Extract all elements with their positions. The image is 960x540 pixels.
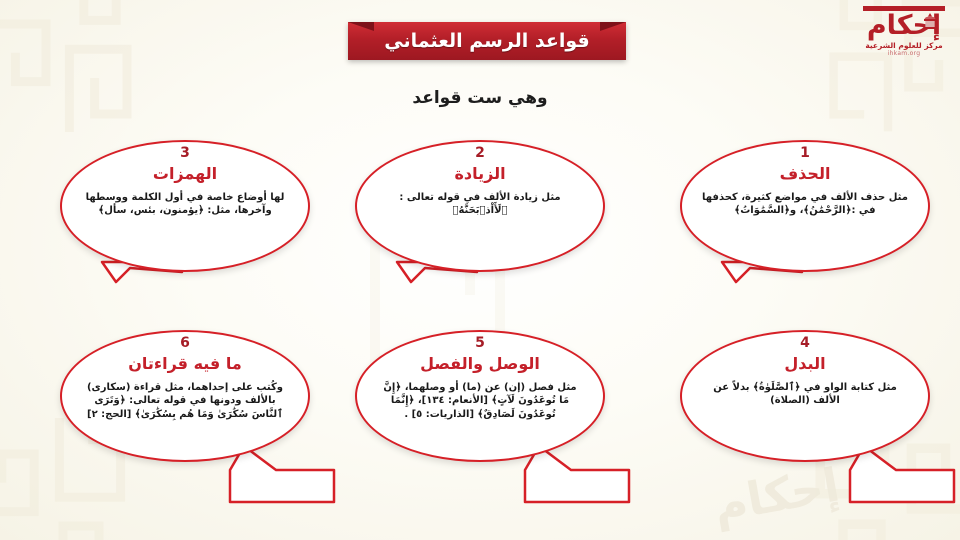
rule-heading-4: البدل	[784, 354, 825, 373]
rule-bubble-1[interactable]: 1 الحذف مثل حذف الألف في مواضع كثيرة، كح…	[680, 140, 930, 272]
rule-number-1: 1	[800, 146, 810, 161]
kufic-pattern-top-left	[0, 0, 150, 150]
logo-subtitle-ar: مركز للعلوم الشرعية	[856, 42, 952, 50]
infographic-canvas: إحكام قواعد الرسم العثماني إحكام مركز لل…	[0, 0, 960, 540]
rule-heading-6: ما فيه قراءتان	[128, 354, 242, 373]
rule-body-4: مثل كتابة الواو في ﴿ٱلصَّلَوٰةُ﴾ بدلاً ع…	[702, 381, 908, 408]
brand-logo: إحكام مركز للعلوم الشرعية ihkam.org	[856, 6, 952, 68]
logo-subtitle-en: ihkam.org	[856, 51, 952, 57]
rule-number-5: 5	[475, 336, 485, 351]
page-subtitle: وهي ست قواعد	[0, 88, 960, 108]
rule-bubble-2[interactable]: 2 الزيادة مثل زيادة الألف في قوله تعالى …	[355, 140, 605, 272]
rule-bubble-3[interactable]: 3 الهمزات لها أوضاع خاصة في أول الكلمة و…	[60, 140, 310, 272]
rule-number-6: 6	[180, 336, 190, 351]
rule-body-5: مثل فصل (إن) عن (ما) أو وصلهما، ﴿إِنَّ م…	[377, 381, 583, 422]
rule-body-6: وكُتب على إحداهما، مثل قراءة (سكارى) بال…	[82, 381, 288, 422]
rule-body-2: مثل زيادة الألف في قوله تعالى : ﴿لَأَاْذ…	[377, 191, 583, 218]
rule-bubble-4[interactable]: 4 البدل مثل كتابة الواو في ﴿ٱلصَّلَوٰةُ﴾…	[680, 330, 930, 462]
rule-number-2: 2	[475, 146, 485, 161]
rule-body-3: لها أوضاع خاصة في أول الكلمة ووسطها وآخر…	[82, 191, 288, 218]
rule-heading-3: الهمزات	[153, 164, 217, 183]
page-title: قواعد الرسم العثماني	[384, 32, 589, 51]
rule-bubble-5[interactable]: 5 الوصل والفصل مثل فصل (إن) عن (ما) أو و…	[355, 330, 605, 462]
rule-heading-5: الوصل والفصل	[420, 354, 540, 373]
page-title-banner: قواعد الرسم العثماني	[348, 22, 626, 60]
rule-number-4: 4	[800, 336, 810, 351]
mosque-dome-icon	[922, 12, 938, 30]
rule-heading-1: الحذف	[780, 164, 831, 183]
watermark-text: إحكام	[710, 457, 844, 532]
rule-number-3: 3	[180, 146, 190, 161]
rule-body-1: مثل حذف الألف في مواضع كثيرة، كحذفها في …	[702, 191, 908, 218]
rule-bubble-6[interactable]: 6 ما فيه قراءتان وكُتب على إحداهما، مثل …	[60, 330, 310, 462]
rule-heading-2: الزيادة	[454, 164, 505, 183]
